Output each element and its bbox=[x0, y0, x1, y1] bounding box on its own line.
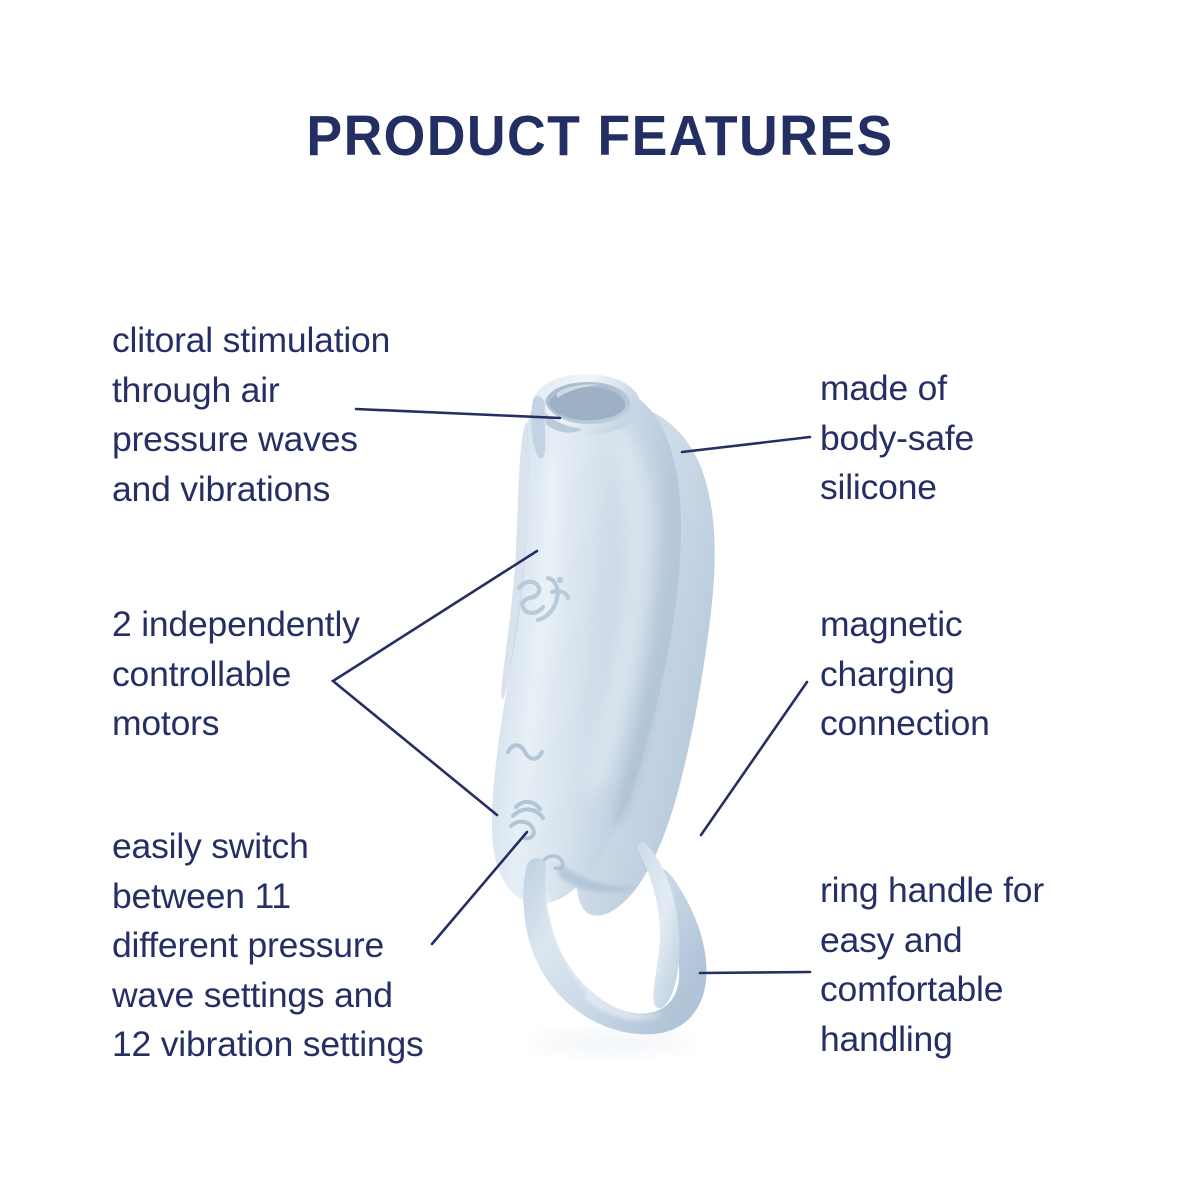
product-controls bbox=[508, 745, 563, 868]
page-title: PRODUCT FEATURES bbox=[36, 108, 1164, 165]
leader-silicone bbox=[682, 437, 810, 452]
leader-charging bbox=[701, 682, 807, 835]
callout-body-safe-silicone: made of body-safe silicone bbox=[820, 364, 1120, 513]
ring-handle-loop bbox=[523, 842, 706, 1034]
leader-ring-handle bbox=[700, 972, 810, 973]
vibration-wave-icon bbox=[508, 745, 542, 759]
callout-pressure-wave-settings: easily switch between 11 different press… bbox=[112, 822, 492, 1070]
satisfyer-logo-emboss bbox=[519, 577, 568, 620]
product-body bbox=[492, 384, 681, 904]
small-wave-icon bbox=[544, 856, 563, 869]
air-pulse-wave-icon bbox=[511, 802, 543, 838]
callout-independent-motors: 2 independently controllable motors bbox=[112, 600, 452, 749]
product-rear-lobe bbox=[577, 402, 715, 915]
callout-magnetic-charging: magnetic charging connection bbox=[820, 600, 1120, 749]
callout-clitoral-stimulation: clitoral stimulation through air pressur… bbox=[112, 316, 472, 514]
infographic-page: PRODUCT FEATURES bbox=[0, 0, 1200, 1200]
air-pressure-opening bbox=[531, 374, 640, 459]
callout-ring-handle: ring handle for easy and comfortable han… bbox=[820, 866, 1120, 1064]
product-drop-shadow bbox=[534, 1032, 690, 1052]
